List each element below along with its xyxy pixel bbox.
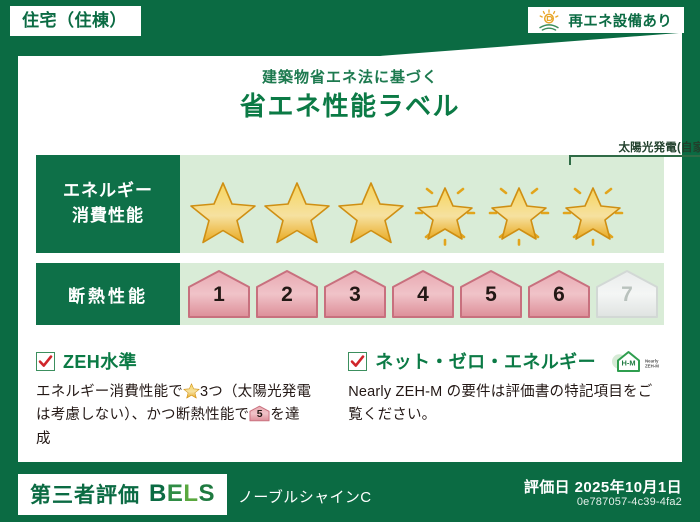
inline-house-number: 5 [249, 407, 270, 422]
energy-performance-key: エネルギー 消費性能 [36, 155, 180, 253]
star-1 [186, 177, 260, 249]
net-zero-checkbox [348, 352, 367, 371]
house-badge-icon [390, 268, 456, 320]
zeh-criteria-block: ZEH水準 エネルギー消費性能で3つ（太陽光発電は考慮しない）、かつ断熱性能で5… [36, 348, 326, 448]
net-zero-criteria-title: ネット・ゼロ・エネルギー [375, 348, 596, 374]
zeh-criteria-header: ZEH水準 [36, 348, 312, 374]
solar-annotation-label: 太陽光発電(自家消費)分 [569, 139, 700, 155]
zeh-m-house-icon: H-M Nearly ZEH-M [608, 348, 664, 374]
check-icon [38, 354, 53, 369]
renewable-energy-badge: 再エネ設備あり [528, 7, 684, 33]
insulation-performance-row: 断熱性能 1 [36, 263, 664, 325]
house-badge-icon [322, 268, 388, 320]
star-4-solar [408, 177, 482, 249]
building-type-chip: 住宅（住棟） [10, 6, 141, 36]
house-badge-icon [526, 268, 592, 320]
insulation-level-2: 2 [254, 268, 320, 320]
label-footer: 第三者評価 BELS ノーブルシャインC 評価日 2025年10月1日 0e78… [0, 462, 700, 522]
bels-letter-s: S [199, 480, 216, 507]
label-subtitle: 建築物省エネ法に基づく [0, 66, 700, 87]
insulation-level-5: 5 [458, 268, 524, 320]
energy-performance-label: 住宅（住棟） 再エネ設備あり 建築物省エネ法に基づく 省エネ性能ラベル エネルギ… [0, 0, 700, 522]
evaluation-date-label: 評価日 [524, 479, 570, 496]
house-badge-icon [594, 268, 660, 320]
energy-performance-row: エネルギー 消費性能 太陽光発電(自家消費)分 [36, 155, 664, 253]
insulation-performance-key: 断熱性能 [36, 263, 180, 325]
star-icon [183, 383, 200, 399]
label-title: 省エネ性能ラベル [0, 86, 700, 123]
zeh-criteria-title: ZEH水準 [63, 348, 137, 374]
sun-icon [537, 9, 561, 31]
check-icon [350, 354, 365, 369]
net-zero-criteria-header: ネット・ゼロ・エネルギー H-M Nearly ZEH-M [348, 348, 664, 374]
inline-house-badge: 5 [249, 405, 270, 422]
star-2 [260, 177, 334, 249]
evaluation-date: 評価日 2025年10月1日 [524, 476, 682, 497]
energy-key-line2: 消費性能 [63, 204, 153, 229]
zeh-checkbox [36, 352, 55, 371]
star-sparkle-icon [558, 180, 628, 246]
house-badge-icon [186, 268, 252, 320]
energy-performance-value: 太陽光発電(自家消費)分 [180, 155, 664, 253]
house-badge-icon [458, 268, 524, 320]
net-zero-criteria-block: ネット・ゼロ・エネルギー H-M Nearly ZEH-M Nearly ZEH… [326, 348, 664, 448]
bels-chip: 第三者評価 BELS [18, 474, 227, 515]
star-sparkle-icon [410, 180, 480, 246]
third-party-label: 第三者評価 [30, 479, 140, 509]
star-icon [262, 180, 332, 246]
evaluation-date-value: 2025年10月1日 [575, 479, 682, 496]
insulation-level-3: 3 [322, 268, 388, 320]
star-6-solar [556, 177, 630, 249]
star-5-solar [482, 177, 556, 249]
energy-key-line1: エネルギー [63, 179, 153, 204]
zeh-m-inner-text: H-M [622, 359, 636, 368]
insulation-level-7: 7 [594, 268, 660, 320]
zeh-criteria-body: エネルギー消費性能で3つ（太陽光発電は考慮しない）、かつ断熱性能で5を達成 [36, 381, 312, 451]
star-icon [336, 180, 406, 246]
criteria-section: ZEH水準 エネルギー消費性能で3つ（太陽光発電は考慮しない）、かつ断熱性能で5… [36, 348, 664, 448]
bels-wordmark: BELS [149, 480, 215, 508]
bels-letter-l: L [183, 480, 198, 507]
house-badge-icon [254, 268, 320, 320]
property-name: ノーブルシャインC [238, 486, 372, 507]
star-3 [334, 177, 408, 249]
insulation-level-4: 4 [390, 268, 456, 320]
bels-letter-b: B [149, 480, 167, 507]
star-rating [180, 177, 664, 249]
insulation-level-scale: 1 2 3 4 [180, 263, 664, 325]
building-type-label: 住宅（住棟） [22, 11, 127, 30]
solar-annotation-bracket [569, 155, 700, 165]
insulation-level-1: 1 [186, 268, 252, 320]
renewable-badge-label: 再エネ設備あり [568, 10, 672, 31]
star-icon [188, 180, 258, 246]
evaluation-id: 0e787057-4c39-4fa2 [577, 496, 682, 508]
net-zero-criteria-body: Nearly ZEH-M の要件は評価書の特記項目をご覧ください。 [348, 381, 664, 428]
zeh-body-part1: エネルギー消費性能で [36, 384, 183, 400]
insulation-performance-value: 1 2 3 4 [180, 263, 664, 325]
zeh-m-caption-2: ZEH-M [645, 363, 659, 368]
bels-letter-e: E [167, 480, 184, 507]
insulation-level-6: 6 [526, 268, 592, 320]
star-sparkle-icon [484, 180, 554, 246]
